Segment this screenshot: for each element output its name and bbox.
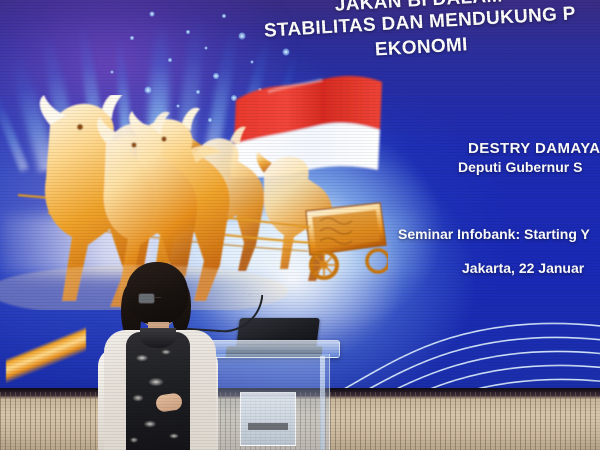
sparkle <box>149 11 154 16</box>
sparkle <box>196 90 200 94</box>
podium-plate <box>240 392 296 446</box>
eyeglasses <box>138 293 178 302</box>
speaker-role: Deputi Gubernur S <box>400 159 600 175</box>
conference-photo: JAKAN BI DALAM STABILITAS DAN MENDUKUNG … <box>0 0 600 450</box>
sparkle <box>186 30 190 34</box>
sparkle <box>168 58 172 62</box>
sparkle <box>130 36 134 40</box>
sparkle <box>144 86 151 93</box>
event-location-date: Jakarta, 22 Januar <box>398 260 600 276</box>
slide-event: Seminar Infobank: Starting Y Jakarta, 22… <box>398 226 600 276</box>
slide-speaker: DESTRY DAMAYA Deputi Gubernur S <box>400 140 600 175</box>
sparkle <box>204 46 207 49</box>
speaker-name: DESTRY DAMAYA <box>400 140 600 157</box>
batik-vest <box>126 332 190 450</box>
collar <box>140 328 176 348</box>
podium-leg-right <box>320 356 325 450</box>
event-name: Seminar Infobank: Starting Y <box>398 226 600 242</box>
sparkle <box>110 70 113 73</box>
female-presenter <box>96 262 226 450</box>
sparkle <box>213 73 219 79</box>
